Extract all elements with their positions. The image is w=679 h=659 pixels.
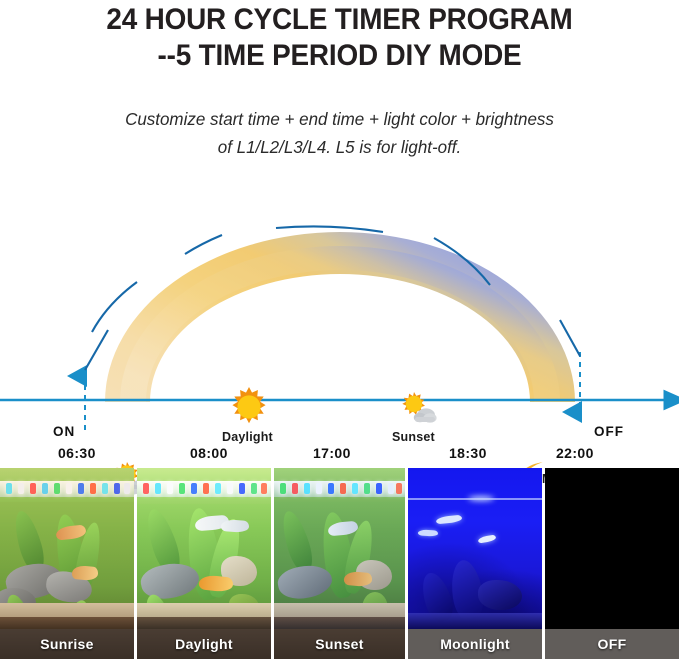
mode-photo-strip: Sunrise bbox=[0, 468, 679, 659]
time-label-3: 18:30 bbox=[449, 445, 487, 461]
on-off-guides bbox=[85, 352, 580, 430]
diagram-svg bbox=[0, 180, 679, 470]
page-subtitle: Customize start time + end time + light … bbox=[0, 105, 679, 161]
time-label-4: 22:00 bbox=[556, 445, 594, 461]
time-label-1: 08:00 bbox=[190, 445, 228, 461]
node-label-sunset: Sunset bbox=[392, 430, 435, 444]
photo-caption: Sunset bbox=[274, 629, 405, 659]
on-label: ON bbox=[53, 424, 75, 439]
sun-icon bbox=[228, 386, 270, 428]
daylight-photo[interactable]: Daylight bbox=[137, 468, 271, 659]
moonlight-photo[interactable]: Moonlight bbox=[408, 468, 542, 659]
day-cycle-diagram: Sunrise Daylight Sunset Moonlig bbox=[0, 180, 679, 470]
photo-caption: Moonlight bbox=[408, 629, 542, 659]
title-line-2: --5 TIME PERIOD DIY MODE bbox=[24, 38, 655, 74]
subtitle-line-2: of L1/L2/L3/L4. L5 is for light-off. bbox=[10, 133, 669, 161]
sun-cloud-icon bbox=[398, 389, 440, 428]
photo-caption: OFF bbox=[545, 629, 679, 659]
page-title: 24 HOUR CYCLE TIMER PROGRAM --5 TIME PER… bbox=[0, 2, 679, 74]
off-label: OFF bbox=[594, 424, 624, 439]
photo-caption: Sunrise bbox=[0, 629, 134, 659]
sunrise-photo[interactable]: Sunrise bbox=[0, 468, 134, 659]
node-label-daylight: Daylight bbox=[222, 430, 273, 444]
sunset-photo[interactable]: Sunset bbox=[274, 468, 405, 659]
time-label-2: 17:00 bbox=[313, 445, 351, 461]
daylight-band bbox=[105, 232, 575, 402]
photo-caption: Daylight bbox=[137, 629, 271, 659]
subtitle-line-1: Customize start time + end time + light … bbox=[10, 105, 669, 133]
title-line-1: 24 HOUR CYCLE TIMER PROGRAM bbox=[24, 2, 655, 38]
time-label-0: 06:30 bbox=[58, 445, 96, 461]
off-photo[interactable]: OFF bbox=[545, 468, 679, 659]
